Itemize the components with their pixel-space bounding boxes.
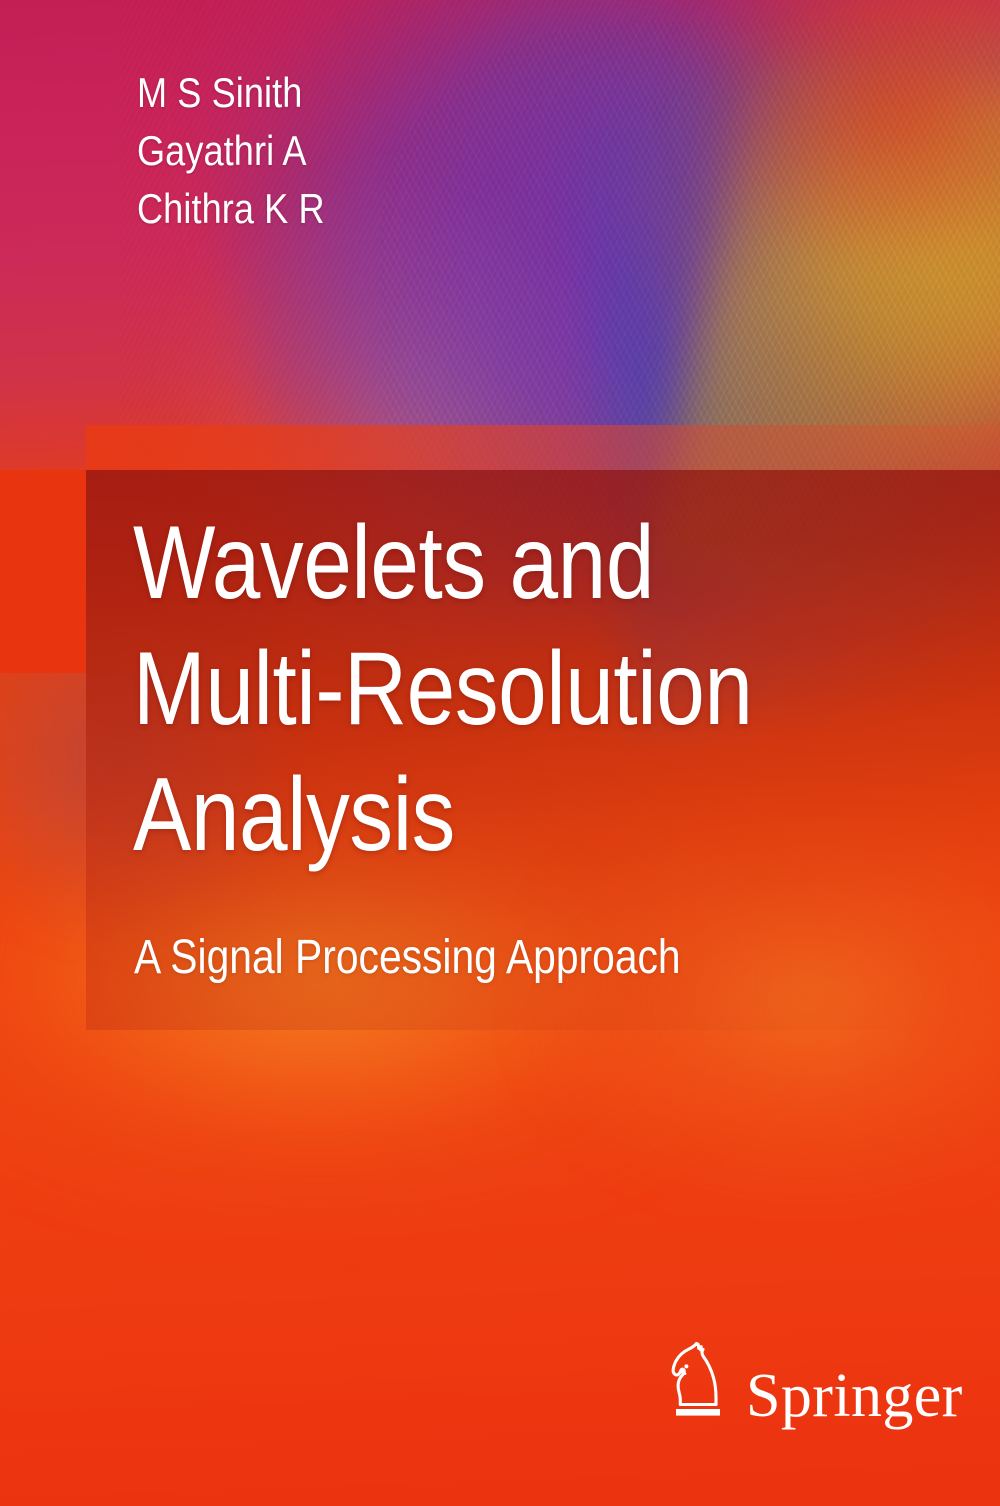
author-name-2: Gayathri A — [137, 122, 670, 180]
author-name-1: M S Sinith — [137, 64, 670, 122]
title-line-3: Analysis — [133, 752, 889, 878]
publisher-name: Springer — [746, 1365, 963, 1427]
book-subtitle: A Signal Processing Approach — [134, 929, 814, 987]
title-line-1: Wavelets and — [133, 500, 889, 626]
author-name-3: Chithra K R — [137, 180, 670, 238]
title-line-2: Multi-Resolution — [133, 626, 889, 752]
left-spine-block — [0, 470, 86, 673]
springer-knight-icon — [668, 1340, 730, 1423]
publisher-logo: Springer — [668, 1340, 963, 1423]
book-title: Wavelets and Multi-Resolution Analysis — [133, 500, 889, 878]
upper-accent-band — [86, 425, 1000, 470]
book-cover: M S Sinith Gayathri A Chithra K R Wavele… — [0, 0, 1000, 1506]
author-list: M S Sinith Gayathri A Chithra K R — [137, 64, 670, 238]
